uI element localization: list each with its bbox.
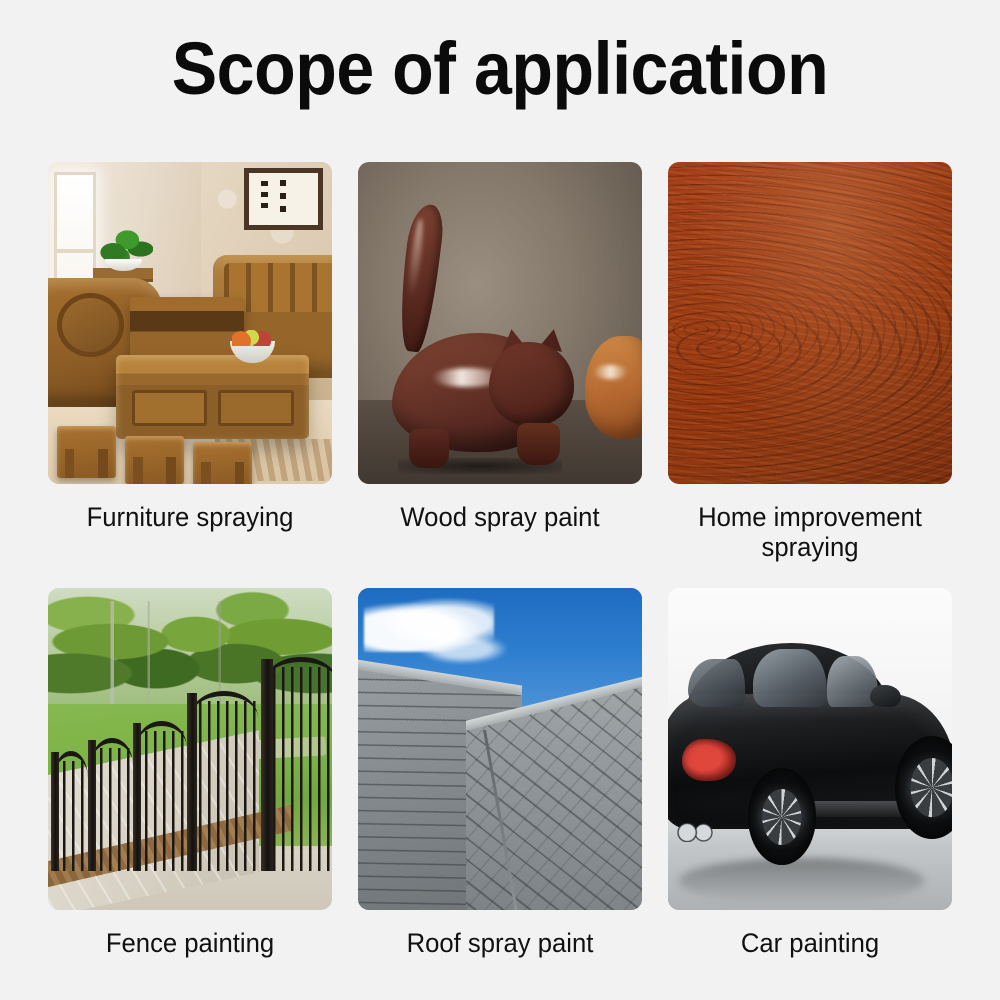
application-grid: Furniture spraying Wood spray paint [48,162,952,562]
caption-line-2: spraying [675,532,945,562]
grid-cell-fence-painting[interactable]: Fence painting [48,588,332,958]
tile-caption-home-improvement-spraying: Home improvement spraying [675,502,945,562]
wheel-spokes [762,789,802,845]
fence-panel [136,731,187,871]
rear-wheel [748,768,816,865]
scope-of-application-page: Scope of application [0,0,1000,1000]
fence-post [88,740,96,872]
fence-panel [91,748,134,871]
grid-cell-home-improvement-spraying[interactable]: Home improvement spraying [668,162,952,562]
cat-leg [409,429,449,468]
grid-cell-roof-spray-paint[interactable]: Roof spray paint [358,588,642,958]
cat-leg [517,423,560,465]
coffee-table [116,355,309,439]
roof-spray-paint-image[interactable] [358,588,642,910]
rear-side-window [753,649,827,707]
tail-light [682,739,736,781]
wheel-spokes [911,758,952,818]
wall-art-frame [244,168,324,229]
caption-line-1: Home improvement [675,502,945,532]
grid-cell-furniture-spraying[interactable]: Furniture spraying [48,162,332,562]
metal-fence [48,659,332,872]
fence-post [133,723,141,872]
second-figurine [585,336,642,439]
fence-post [187,693,197,872]
tile-caption-fence-painting: Fence painting [55,928,325,958]
wooden-stool [57,426,117,478]
tile-caption-car-painting: Car painting [675,928,945,958]
grid-cell-car-painting[interactable]: Car painting [668,588,952,958]
rear-window [688,659,745,707]
cloud [415,633,512,665]
fence-arch [136,721,187,748]
fence-arch [91,738,134,765]
application-grid-row-2: Fence painting Roof spray paint [48,588,952,958]
grid-cell-wood-spray-paint[interactable]: Wood spray paint [358,162,642,562]
exhaust-pipes [677,823,717,842]
cat-head [489,342,574,426]
fence-post [51,752,59,871]
cat-tail [395,202,447,353]
page-title: Scope of application [40,30,960,108]
home-improvement-spraying-image[interactable] [668,162,952,484]
wooden-stool [125,436,185,484]
furniture-spraying-image[interactable] [48,162,332,484]
fence-panel [264,667,332,871]
fence-painting-image[interactable] [48,588,332,910]
car-reflection [679,858,923,903]
car-painting-image[interactable] [668,588,952,910]
varnish-gloss-highlight [668,162,952,484]
tile-caption-roof-spray-paint: Roof spray paint [365,928,635,958]
fence-arch [190,691,258,718]
side-mirror [870,685,901,708]
tile-caption-furniture-spraying: Furniture spraying [55,502,325,532]
fence-panel [190,701,258,871]
wooden-stool [193,442,253,484]
tile-caption-wood-spray-paint: Wood spray paint [365,502,635,532]
fence-post [261,659,273,872]
fence-arch [264,657,332,684]
wood-spray-paint-image[interactable] [358,162,642,484]
